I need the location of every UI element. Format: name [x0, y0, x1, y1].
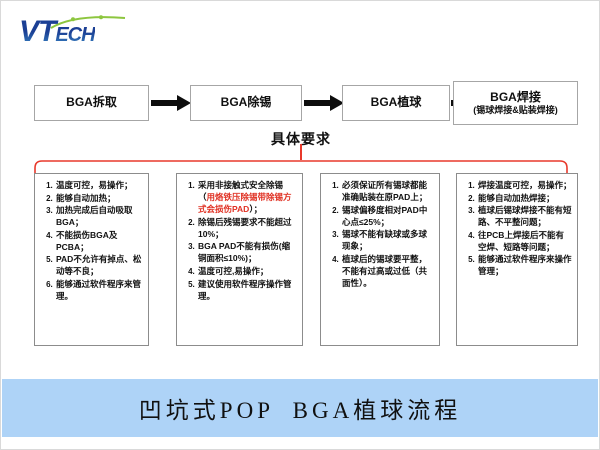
- list-item: 除锡后残锡要求不能超过10%；: [197, 216, 297, 240]
- list-item: 锡球不能有缺球或多球现象；: [341, 228, 434, 252]
- flow-step-4-sublabel: (锡球焊接&贴装焊接): [473, 105, 558, 115]
- list-item: 温度可控,易操作；: [197, 265, 297, 277]
- flow-step-3[interactable]: BGA植球: [342, 85, 450, 121]
- list-item: 温度可控，易操作；: [55, 179, 143, 191]
- list-item: 植球后锡球焊接不能有短路、不平整问题；: [477, 204, 572, 228]
- requirement-column-1: 温度可控，易操作； 能够自动加热； 加热完成后自动吸取BGA； 不能损伤BGA及…: [34, 173, 149, 346]
- requirement-list-1: 温度可控，易操作； 能够自动加热； 加热完成后自动吸取BGA； 不能损伤BGA及…: [37, 179, 145, 302]
- list-item: PAD不允许有掉点、松动等不良；: [55, 253, 143, 277]
- requirement-list-2: 采用非接触式安全除锡（用烙铁压除锡带除锡方式会损伤PAD）； 除锡后残锡要求不能…: [179, 179, 299, 302]
- flow-step-1-label: BGA拆取: [66, 96, 117, 110]
- title-banner: 凹坑式POP BGA植球流程: [2, 379, 598, 437]
- list-item: 不能损伤BGA及PCBA；: [55, 229, 143, 253]
- list-item: 能够通过软件程序来操作管理；: [477, 253, 572, 277]
- banner-title: 凹坑式POP BGA植球流程: [2, 379, 598, 437]
- vtech-logo: VTECH: [19, 11, 139, 53]
- list-item: BGA PAD不能有损伤(缩铜面积≤10%)；: [197, 240, 297, 264]
- list-item: 植球后的锡球要平整，不能有过高或过低（共面性）。: [341, 253, 434, 289]
- list-item: 焊接温度可控，易操作；: [477, 179, 572, 191]
- flow-step-3-label: BGA植球: [371, 96, 422, 110]
- arrow-right-icon-2: [304, 94, 344, 112]
- requirement-list-3: 必须保证所有锡球都能准确贴装在原PAD上； 锡球偏移度相对PAD中心点≤25%；…: [323, 179, 436, 289]
- list-item: 能够自动加热焊接；: [477, 192, 572, 204]
- arrow-right-icon-1: [151, 94, 191, 112]
- list-item: 锡球偏移度相对PAD中心点≤25%；: [341, 204, 434, 228]
- slide-canvas: VTECH BGA拆取 BGA除锡 BGA植球 BGA焊接 (锡球焊接&贴装焊接…: [0, 0, 600, 450]
- flow-step-2-label: BGA除锡: [221, 96, 272, 110]
- item-text-tail: ）；: [249, 204, 262, 214]
- list-item: 往PCB上焊接后不能有空焊、短路等问题；: [477, 229, 572, 253]
- requirement-column-2: 采用非接触式安全除锡（用烙铁压除锡带除锡方式会损伤PAD）； 除锡后残锡要求不能…: [176, 173, 303, 346]
- logo-wordmark: VTECH: [19, 17, 95, 50]
- flow-step-1[interactable]: BGA拆取: [34, 85, 149, 121]
- list-item: 能够通过软件程序来管理。: [55, 278, 143, 302]
- flow-step-4[interactable]: BGA焊接 (锡球焊接&贴装焊接): [453, 81, 578, 125]
- list-item: 加热完成后自动吸取BGA；: [55, 204, 143, 228]
- requirement-list-4: 焊接温度可控，易操作； 能够自动加热焊接； 植球后锡球焊接不能有短路、不平整问题…: [459, 179, 574, 278]
- flow-step-4-label: BGA焊接: [490, 91, 541, 105]
- item-text-warning: 用烙铁压除锡带除锡方式会损伤PAD: [198, 192, 292, 214]
- requirement-column-4: 焊接温度可控，易操作； 能够自动加热焊接； 植球后锡球焊接不能有短路、不平整问题…: [456, 173, 578, 346]
- list-item: 采用非接触式安全除锡（用烙铁压除锡带除锡方式会损伤PAD）；: [197, 179, 297, 215]
- list-item: 能够自动加热；: [55, 192, 143, 204]
- list-item: 建议使用软件程序操作管理。: [197, 278, 297, 302]
- list-item: 必须保证所有锡球都能准确贴装在原PAD上；: [341, 179, 434, 203]
- flow-step-2[interactable]: BGA除锡: [190, 85, 302, 121]
- requirement-column-3: 必须保证所有锡球都能准确贴装在原PAD上； 锡球偏移度相对PAD中心点≤25%；…: [320, 173, 440, 346]
